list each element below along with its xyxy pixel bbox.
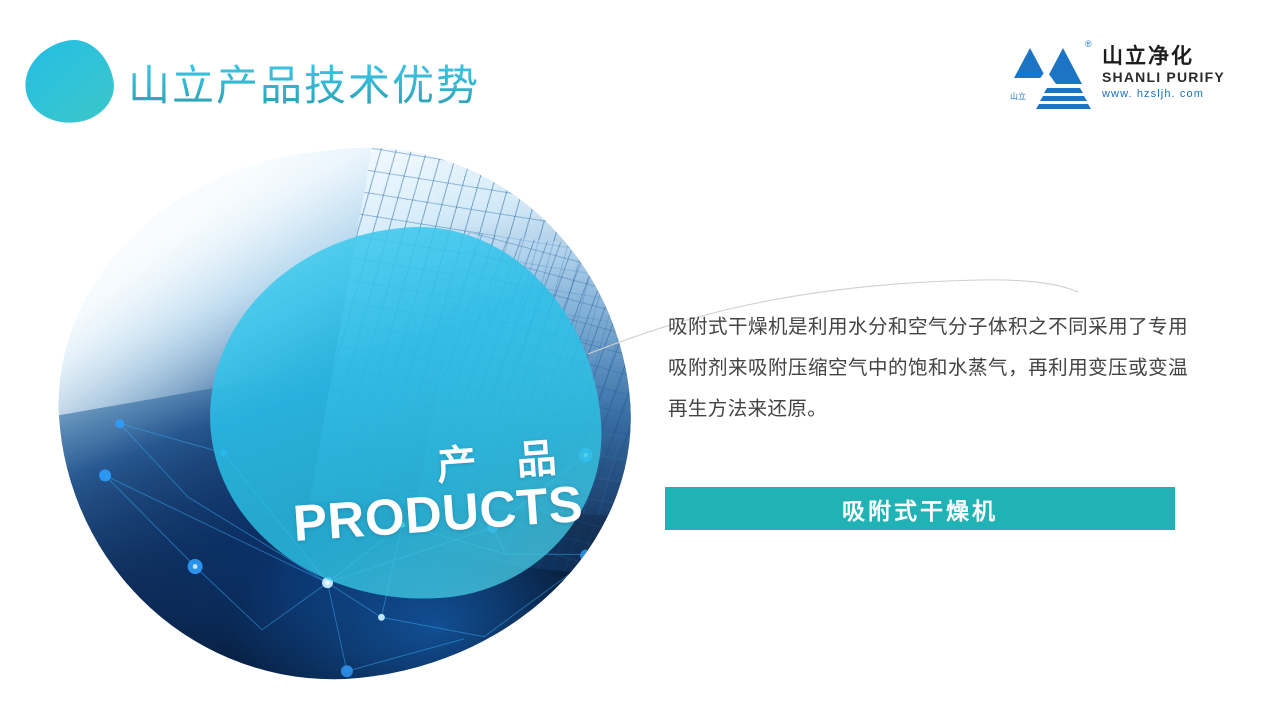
product-name-banner-label: 吸附式干燥机 xyxy=(842,492,998,526)
registered-trademark-icon: ® xyxy=(1085,40,1092,49)
slide-header: 山立产品技术优势 ® 山立 山立净化 SHANLI PURIFY www. hz… xyxy=(0,0,1280,150)
logo-company-name-en: SHANLI PURIFY xyxy=(1102,69,1228,86)
page-title: 山立产品技术优势 xyxy=(128,58,480,114)
slide-root: 山立产品技术优势 ® 山立 山立净化 SHANLI PURIFY www. hz… xyxy=(0,0,1280,720)
product-blob-photo: 产 品 PRODUCTS xyxy=(60,150,630,680)
logo-mark-caption: 山立 xyxy=(1010,92,1026,102)
organic-blob-icon xyxy=(19,34,120,130)
product-description: 吸附式干燥机是利用水分和空气分子体积之不同采用了专用吸附剂来吸附压缩空气中的饱和… xyxy=(668,306,1188,429)
product-name-banner[interactable]: 吸附式干燥机 xyxy=(665,487,1175,530)
company-logo[interactable]: ® 山立 山立净化 SHANLI PURIFY www. hzsljh. com xyxy=(1010,40,1222,122)
product-label-group: 产 品 PRODUCTS xyxy=(198,215,613,613)
logo-text-block: 山立净化 SHANLI PURIFY www. hzsljh. com xyxy=(1102,44,1228,101)
logo-company-name-cn: 山立净化 xyxy=(1102,44,1228,68)
logo-website-url[interactable]: www. hzsljh. com xyxy=(1102,87,1228,101)
